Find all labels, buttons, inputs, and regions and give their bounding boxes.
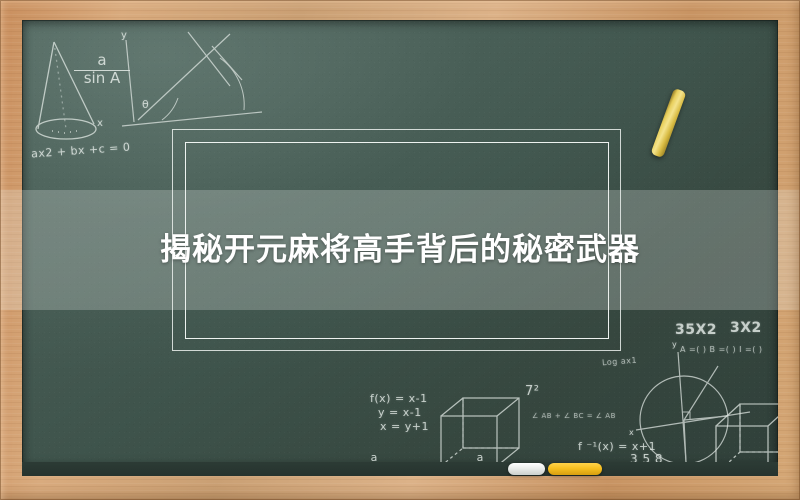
multiply-expression-2: 3X2 — [730, 320, 762, 336]
function-line-2: y = x-1 — [378, 406, 422, 419]
cube-wireframe-right — [712, 398, 778, 468]
axis-label-x: x — [97, 118, 103, 129]
yellow-chalk-icon — [548, 463, 602, 475]
headline-title: 揭秘开元麻将高手背后的秘密武器 — [0, 224, 800, 269]
axis-label-x2: x — [629, 428, 634, 437]
angle-theta-label: θ — [142, 98, 149, 111]
triangle-sum-expression: ∠ AB + ∠ BC = ∠ AB — [532, 412, 616, 420]
axis-label-y2: y — [672, 340, 677, 349]
multiply-expression-1: 35X2 — [675, 322, 717, 338]
function-line-3: x = y+1 — [380, 420, 429, 433]
white-chalk-icon — [508, 463, 545, 475]
square-seven: 7² — [525, 384, 539, 399]
poster-canvas: a sin A ax2 + bx +c = 0 y x θ — [0, 0, 800, 500]
axis-label-y: y — [121, 30, 127, 41]
function-line-1: f(x) = x-1 — [370, 392, 428, 405]
chalk-ledge-shadow — [22, 462, 778, 476]
